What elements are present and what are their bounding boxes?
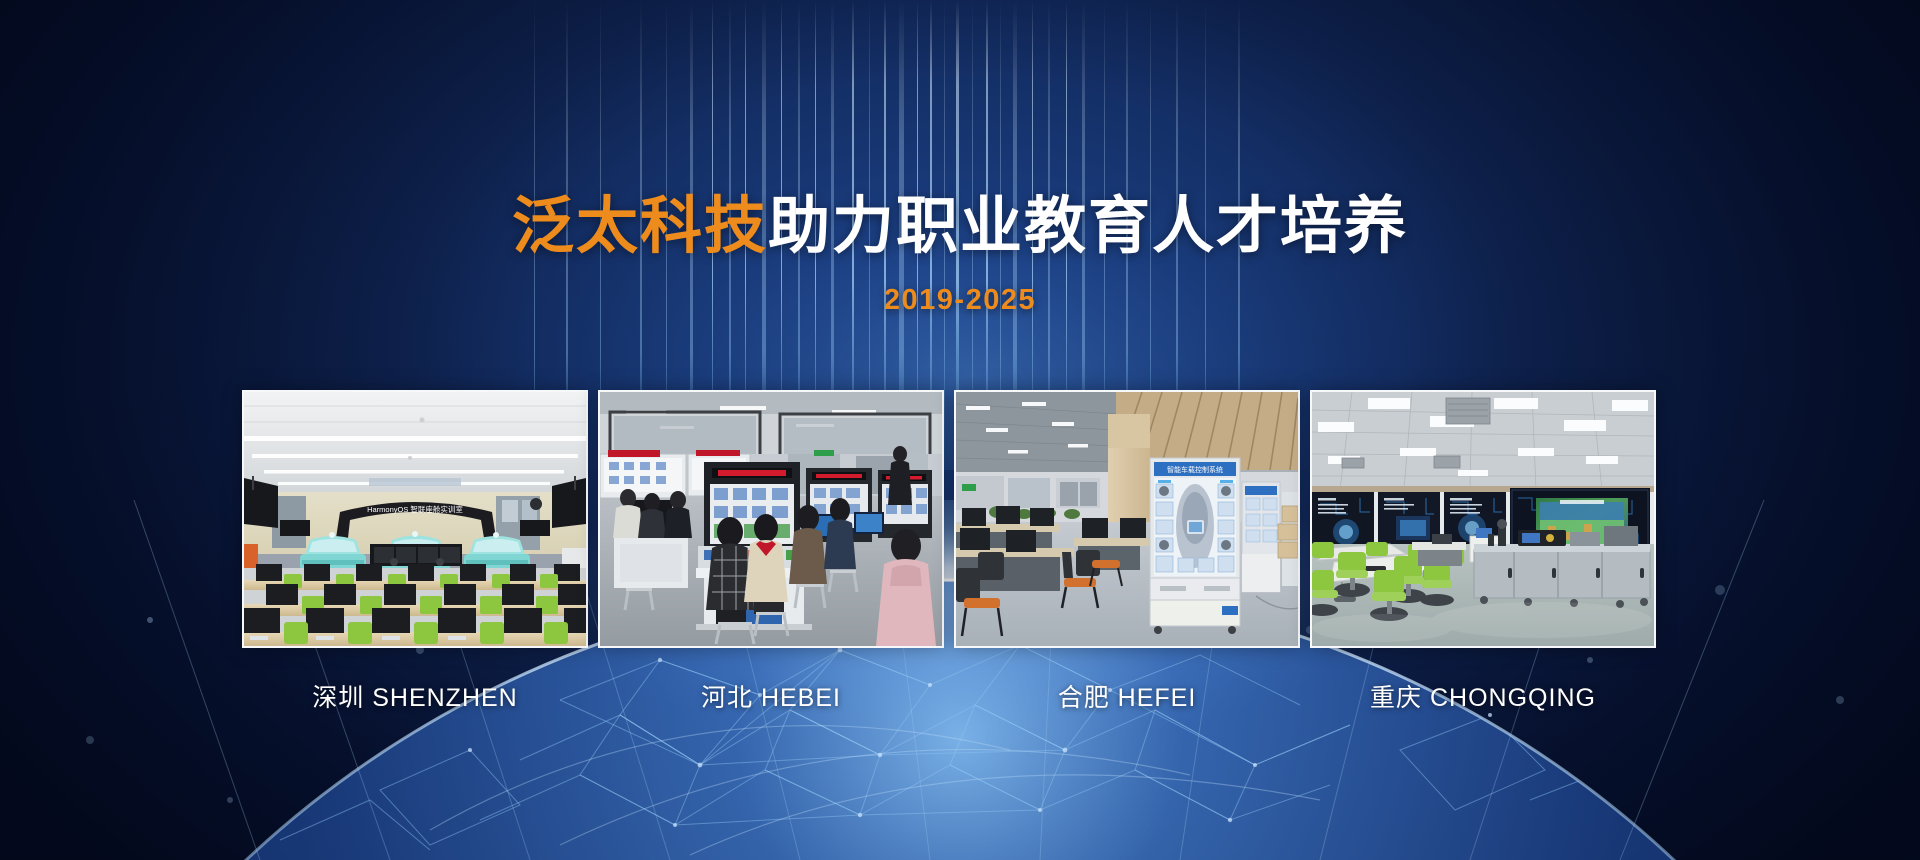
- title-highlight: 泛太科技: [512, 192, 768, 261]
- promo-banner: 泛太科技助力职业教育人才培养 2019-2025: [0, 0, 1920, 860]
- photo-chongqing-scene: [1312, 392, 1654, 646]
- gallery-caption-row: 深圳 SHENZHEN 河北 HEBEI 合肥 HEFEI 重庆 CHONGQI…: [242, 678, 1678, 722]
- gallery-photo-shenzhen[interactable]: HarmonyOS 智联座舱实训室: [242, 390, 588, 648]
- gallery-photo-row: HarmonyOS 智联座舱实训室: [242, 390, 1678, 648]
- photo-hefei-scene: 智能车载控制系统: [956, 392, 1298, 646]
- photo-hebei-scene: [600, 392, 942, 646]
- caption-hefei: 合肥 HEFEI: [954, 678, 1300, 722]
- svg-text:智能车载控制系统: 智能车载控制系统: [1167, 465, 1223, 474]
- gallery-photo-hebei[interactable]: [598, 390, 944, 648]
- gallery-photo-hefei[interactable]: 智能车载控制系统: [954, 390, 1300, 648]
- caption-hebei: 河北 HEBEI: [598, 678, 944, 722]
- photo-shenzhen-scene: HarmonyOS 智联座舱实训室: [244, 392, 586, 646]
- subtitle-year-range: 2019-2025: [0, 284, 1920, 317]
- gallery-photo-chongqing[interactable]: [1310, 390, 1656, 648]
- page-title: 泛太科技助力职业教育人才培养: [0, 196, 1920, 258]
- caption-shenzhen: 深圳 SHENZHEN: [242, 678, 588, 722]
- title-rest: 助力职业教育人才培养: [768, 192, 1408, 261]
- caption-chongqing: 重庆 CHONGQING: [1310, 678, 1656, 722]
- svg-text:HarmonyOS 智联座舱实训室: HarmonyOS 智联座舱实训室: [367, 504, 463, 514]
- title-block: 泛太科技助力职业教育人才培养 2019-2025: [0, 196, 1920, 317]
